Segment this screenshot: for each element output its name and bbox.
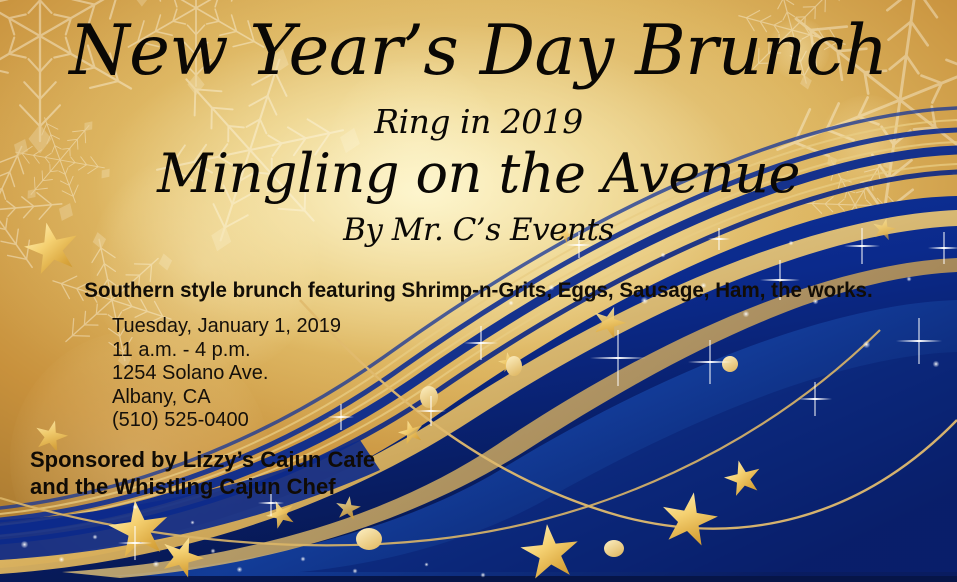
sparkle-burst bbox=[798, 382, 832, 416]
gold-star bbox=[588, 302, 631, 344]
star-string-wire bbox=[300, 300, 957, 529]
sparkle-dot bbox=[58, 556, 65, 563]
gold-star bbox=[517, 521, 583, 582]
event-street: 1254 Solano Ave. bbox=[112, 362, 341, 386]
sponsor-block: Sponsored by Lizzy’s Cajun Cafe and the … bbox=[30, 446, 375, 500]
sparkle-dot bbox=[190, 520, 195, 525]
sponsor-line-2: and the Whistling Cajun Chef bbox=[30, 473, 375, 500]
event-name: Mingling on the Avenue bbox=[0, 147, 957, 201]
sparkle-burst bbox=[118, 526, 152, 560]
sparkle-burst bbox=[590, 330, 646, 386]
sponsor-line-1: Sponsored by Lizzy’s Cajun Cafe bbox=[30, 446, 375, 473]
sparkle-dot bbox=[424, 562, 429, 567]
ring-in-year-line: Ring in 2019 bbox=[0, 105, 957, 138]
sparkle-dot bbox=[300, 556, 306, 562]
gold-bead bbox=[356, 528, 382, 550]
event-phone: (510) 525-0400 bbox=[112, 409, 341, 433]
sparkle-dot bbox=[20, 540, 29, 549]
organizer-byline: By Mr. C’s Events bbox=[0, 215, 957, 246]
sparkle-dot bbox=[742, 310, 750, 318]
gold-bead bbox=[420, 386, 438, 408]
gold-star bbox=[262, 495, 301, 533]
gold-bead bbox=[506, 356, 522, 376]
sparkle-dot bbox=[480, 572, 486, 578]
event-details-block: Tuesday, January 1, 2019 11 a.m. - 4 p.m… bbox=[112, 315, 341, 433]
gold-star bbox=[656, 487, 723, 552]
sparkle-dot bbox=[352, 568, 358, 574]
gold-star bbox=[154, 530, 210, 582]
event-time: 11 a.m. - 4 p.m. bbox=[112, 339, 341, 363]
sparkle-dot bbox=[152, 560, 160, 568]
event-date: Tuesday, January 1, 2019 bbox=[112, 315, 341, 339]
sparkle-dot bbox=[132, 504, 138, 510]
gold-star bbox=[720, 456, 766, 501]
sparkle-burst bbox=[688, 340, 732, 384]
sparkle-dot bbox=[660, 252, 666, 258]
gold-star bbox=[104, 496, 174, 564]
new-years-brunch-flyer: New Year’s Day Brunch Ring in 2019 Mingl… bbox=[0, 0, 957, 582]
sparkle-burst bbox=[464, 326, 498, 360]
gold-bead bbox=[722, 356, 738, 372]
sparkle-dot bbox=[862, 340, 871, 349]
bokeh-circle bbox=[596, 300, 656, 360]
blue-shadow-arc bbox=[300, 352, 957, 572]
gold-star bbox=[496, 350, 521, 375]
gold-star bbox=[395, 417, 427, 448]
sparkle-burst bbox=[416, 396, 446, 426]
event-city: Albany, CA bbox=[112, 386, 341, 410]
menu-feature-line: Southern style brunch featuring Shrimp-n… bbox=[22, 278, 936, 303]
sparkle-dot bbox=[236, 566, 243, 573]
sparkle-dot bbox=[210, 548, 216, 554]
sparkle-dot bbox=[932, 360, 940, 368]
page-title: New Year’s Day Brunch bbox=[0, 17, 957, 86]
gold-bead bbox=[604, 540, 624, 557]
sparkle-dot bbox=[92, 534, 98, 540]
sparkle-burst bbox=[896, 318, 942, 364]
